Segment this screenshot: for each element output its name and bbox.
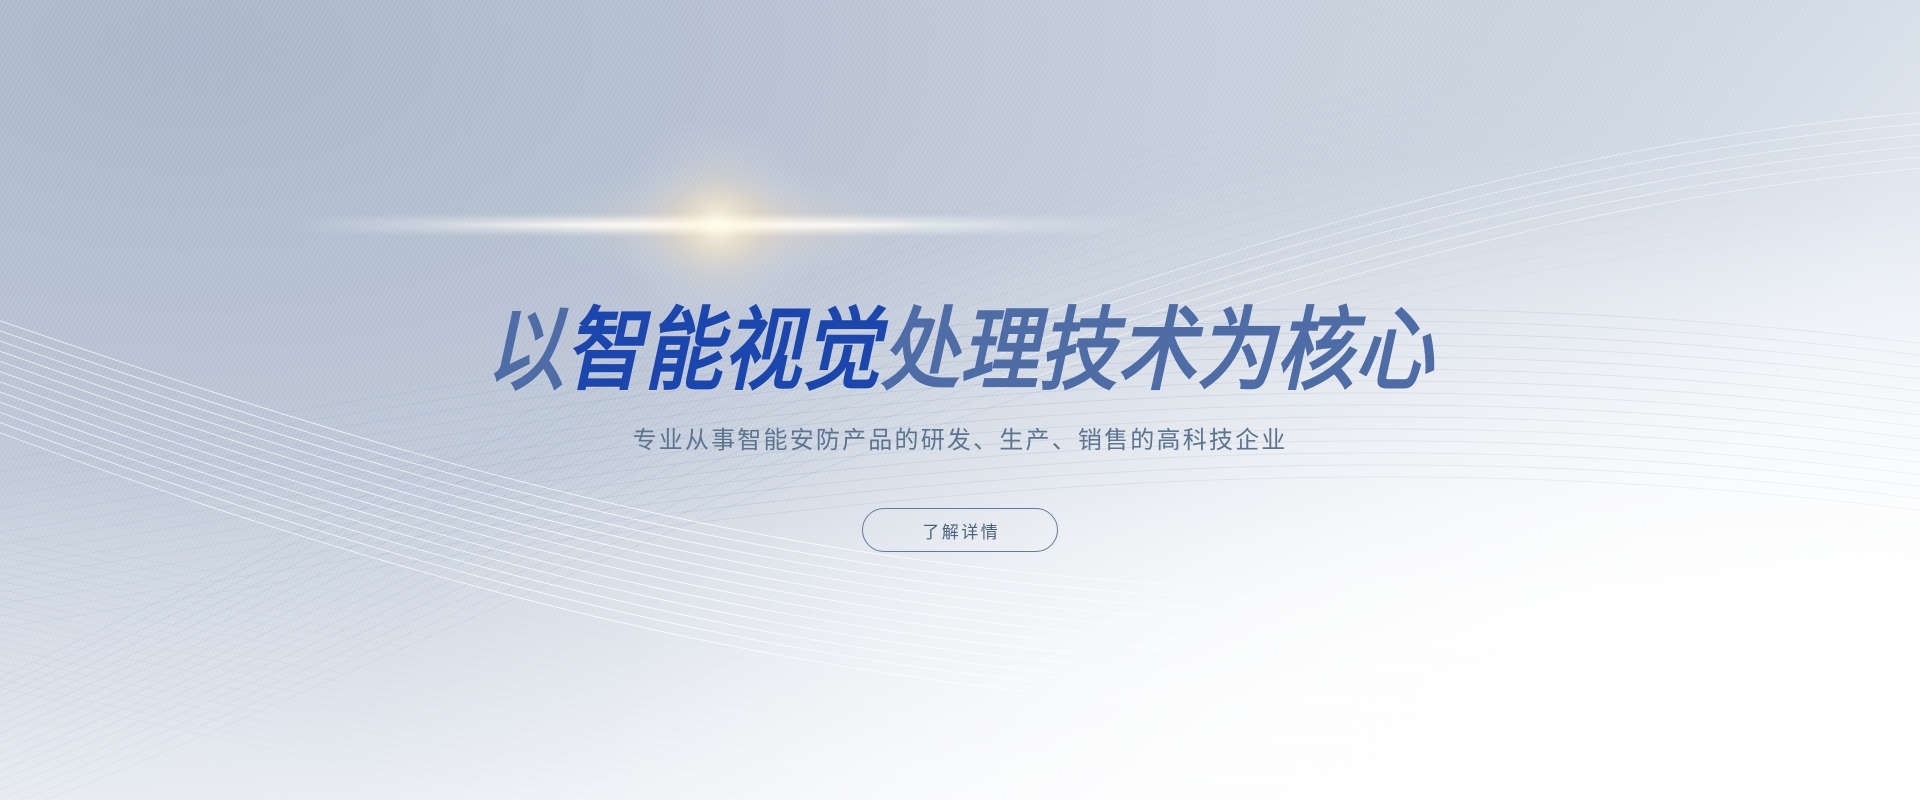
hero-banner: 以智能视觉处理技术为核心 专业从事智能安防产品的研发、生产、销售的高科技企业 了… [0,0,1920,800]
hero-subtitle: 专业从事智能安防产品的研发、生产、销售的高科技企业 [0,424,1920,458]
hero-headline: 以智能视觉处理技术为核心 [0,305,1920,395]
lens-flare-chroma [538,177,868,273]
headline-lead: 以 [486,299,565,401]
learn-more-button[interactable]: 了解详情 [862,508,1058,552]
lens-flare-streak [288,218,1148,232]
hero-content: 以智能视觉处理技术为核心 专业从事智能安防产品的研发、生产、销售的高科技企业 了… [0,0,1920,800]
headline-tail: 处理技术为核心 [881,299,1434,401]
lens-flare-streak-core [418,223,1018,227]
headline-accent: 智能视觉 [565,299,881,401]
lens-flare-ghost [903,215,977,235]
hero-cta-wrap: 了解详情 [0,508,1920,552]
